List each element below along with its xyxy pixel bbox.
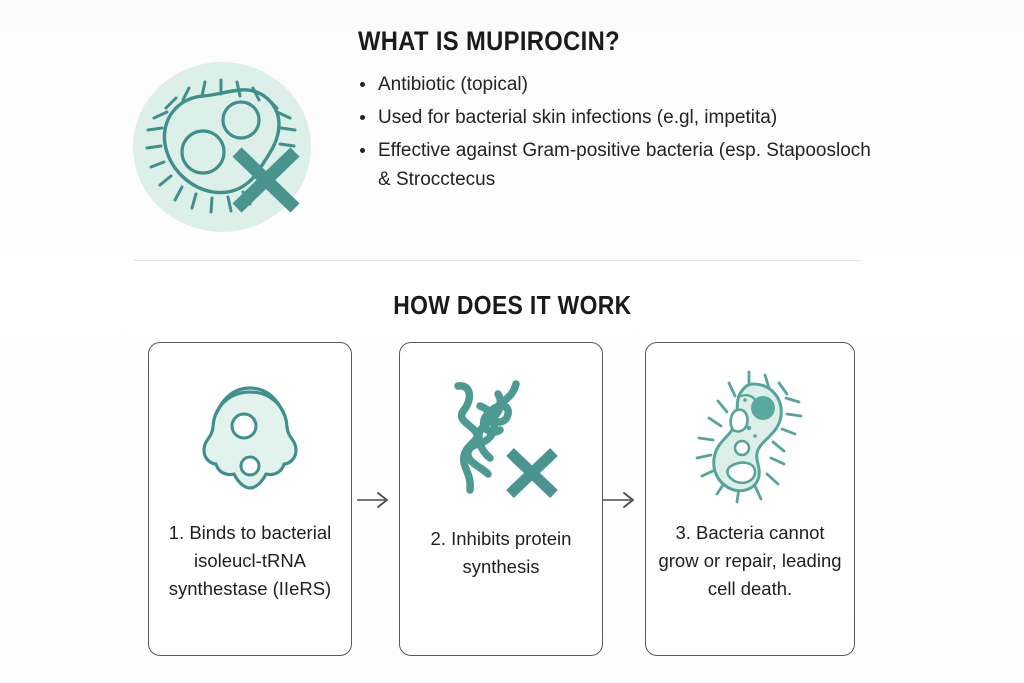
bacterium-dying-glyph	[687, 366, 813, 506]
section-title-label: HOW DOES IT WORK	[393, 290, 631, 321]
bullet-dot-icon	[360, 148, 365, 153]
arrow-step1-to-step2-icon	[355, 490, 393, 510]
protein-strand-blocked-glyph	[436, 370, 566, 502]
step-card-3-label: 3. Bacteria cannot grow or repair, leadi…	[654, 519, 846, 602]
bacterium-dying-icon	[646, 361, 854, 511]
step-card-2: 2. Inhibits protein synthesis	[399, 342, 603, 656]
list-item-label: Antibiotic (topical)	[378, 74, 528, 95]
list-item: Effective against Gram-positive bacteria…	[358, 137, 878, 195]
list-item: Antibiotic (topical)	[358, 71, 878, 100]
what-is-mupirocin-section: WHAT IS MUPIROCIN? Antibiotic (topical) …	[0, 0, 1024, 260]
bacteria-blocked-glyph	[133, 62, 311, 232]
step-card-1: 1. Binds to bacterial isoleucl-tRNA synt…	[148, 342, 352, 656]
mechanism-steps-row: 1. Binds to bacterial isoleucl-tRNA synt…	[148, 342, 856, 658]
step-card-1-label: 1. Binds to bacterial isoleucl-tRNA synt…	[157, 519, 343, 602]
what-is-mupirocin-text-block: WHAT IS MUPIROCIN? Antibiotic (topical) …	[358, 26, 878, 199]
section-divider	[134, 260, 861, 261]
list-item-label: Effective against Gram-positive bacteria…	[378, 140, 871, 190]
bullet-dot-icon	[360, 115, 365, 120]
section-title-how-does-it-work: HOW DOES IT WORK	[0, 290, 1024, 321]
bacterial-cell-enzyme-glyph	[184, 370, 316, 502]
list-item: Used for bacterial skin infections (e.gl…	[358, 104, 878, 133]
bacteria-blocked-icon	[133, 62, 311, 232]
step-card-3: 3. Bacteria cannot grow or repair, leadi…	[645, 342, 855, 656]
bacterial-cell-enzyme-icon	[149, 361, 351, 511]
protein-strand-blocked-icon	[400, 361, 602, 511]
step-card-2-label: 2. Inhibits protein synthesis	[408, 525, 594, 581]
bullet-dot-icon	[360, 82, 365, 87]
arrow-step2-to-step3-icon	[601, 490, 639, 510]
list-item-label: Used for bacterial skin infections (e.gl…	[378, 107, 777, 128]
mupirocin-facts-list: Antibiotic (topical) Used for bacterial …	[358, 71, 878, 195]
infographic-canvas: WHAT IS MUPIROCIN? Antibiotic (topical) …	[0, 0, 1024, 683]
page-title: WHAT IS MUPIROCIN?	[358, 26, 816, 57]
